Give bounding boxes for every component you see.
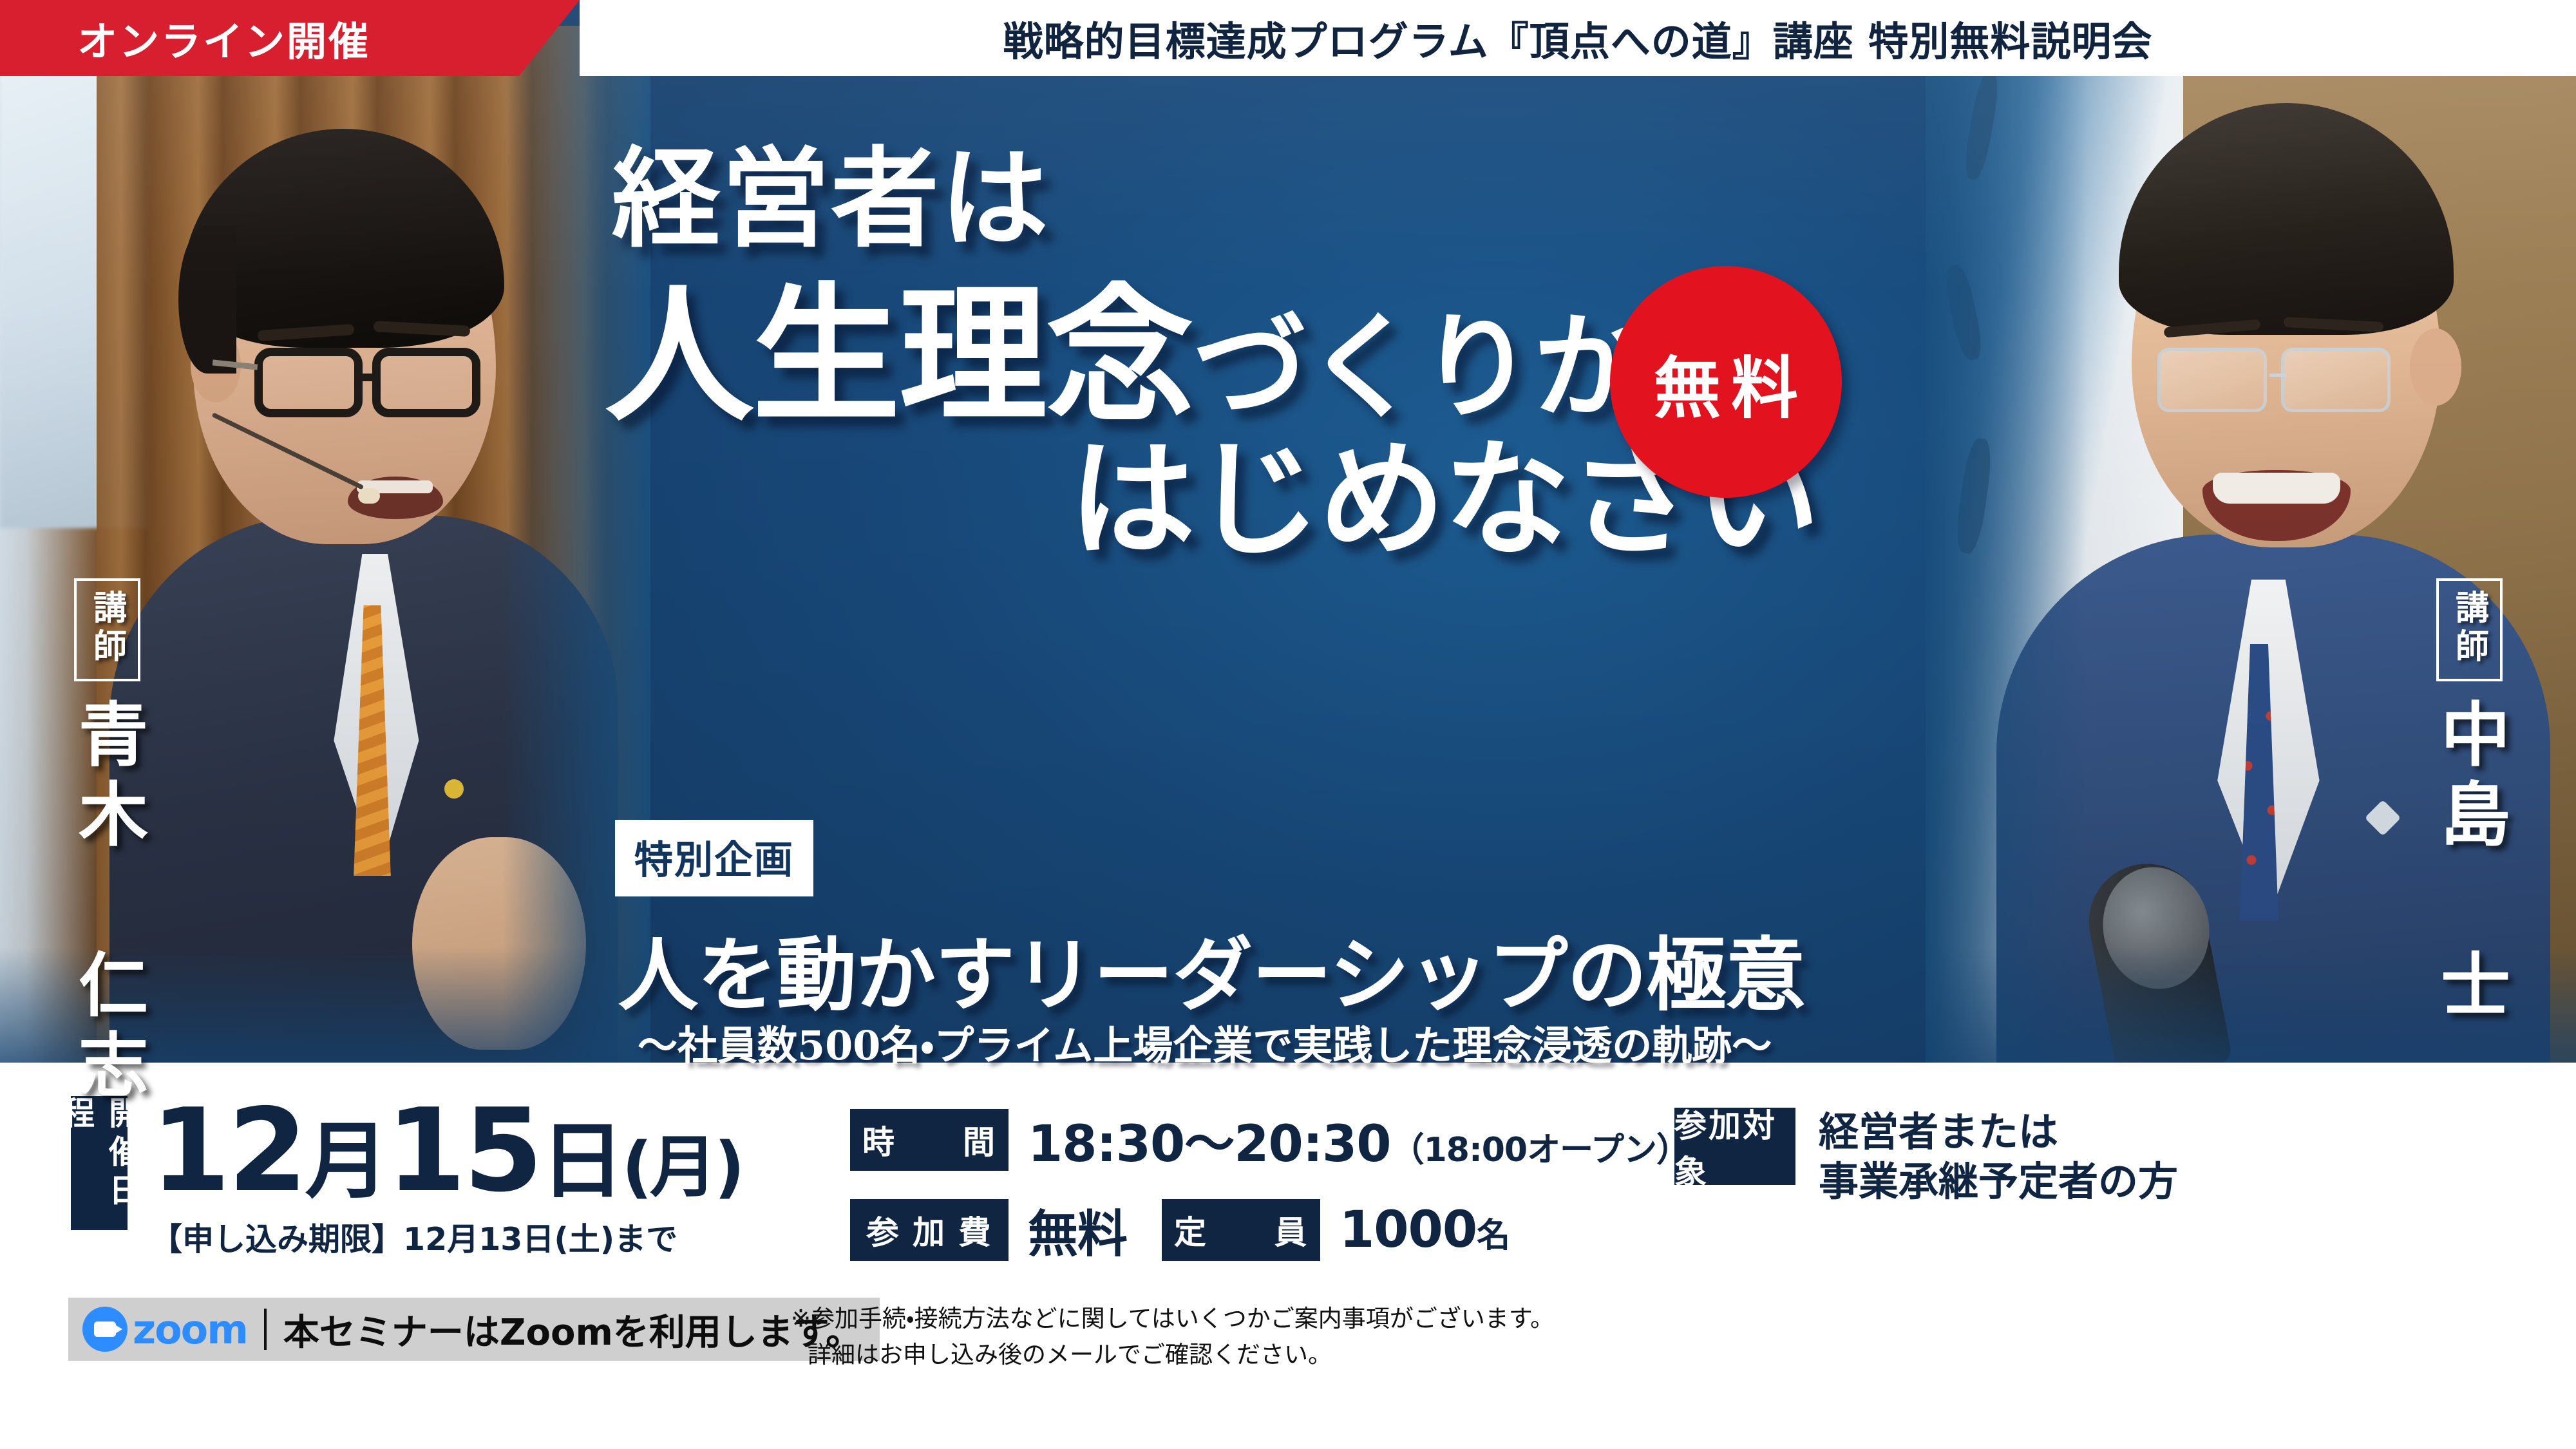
event-time-range: 18:30〜20:30 [1028, 1115, 1391, 1173]
event-time-open: （18:00オープン） [1391, 1131, 1689, 1170]
event-date-block: 開催日程 12月15日(月) 【申し込み期限】12月13日(土)まで [71, 1096, 743, 1260]
event-day-unit: 日 [540, 1112, 621, 1210]
speaker-role-badge: 講師 [2436, 578, 2503, 681]
event-fee-chip-label: 参 加 費 [850, 1207, 1009, 1253]
event-month: 12 [151, 1084, 305, 1217]
special-program-tag: 特別企画 [615, 820, 813, 896]
zoom-divider [264, 1309, 267, 1350]
target-audience-chip: 参加対象 [1674, 1108, 1795, 1185]
event-date-chip-label: 開催日程 [53, 1096, 146, 1230]
event-capacity-number: 1000 [1340, 1201, 1477, 1259]
zoom-notice-text: 本セミナーはZoomを利用します。 [283, 1303, 862, 1356]
speaker-plate-left: 講師 青木 仁志 [57, 578, 157, 1108]
event-time-chip: 時 間 [850, 1109, 1009, 1171]
program-title-bar: 戦略的目標達成プログラム『頂点への道』講座 特別無料説明会 [580, 0, 2576, 76]
target-audience-text: 経営者または 事業承継予定者の方 [1819, 1108, 2178, 1207]
event-fee-value: 無料 [1028, 1194, 1127, 1266]
event-date-values: 12月15日(月) 【申し込み期限】12月13日(土)まで [151, 1096, 743, 1260]
target-audience-block: 参加対象 経営者または 事業承継予定者の方 [1674, 1108, 2178, 1207]
event-capacity-unit: 名 [1477, 1217, 1510, 1255]
footer-details: 開催日程 12月15日(月) 【申し込み期限】12月13日(土)まで 時 間 1… [0, 1063, 2576, 1449]
zoom-wordmark: zoom [133, 1306, 247, 1353]
event-capacity-chip-label: 定 員 [1162, 1207, 1320, 1253]
special-program-tag-label: 特別企画 [634, 829, 794, 885]
speaker-name: 中島 士 [2419, 698, 2519, 1028]
event-capacity-chip: 定 員 [1162, 1199, 1320, 1261]
event-fee-chip: 参 加 費 [850, 1199, 1009, 1261]
speaker-role-badge: 講師 [74, 578, 140, 681]
event-date-text: 12月15日(月) [151, 1096, 743, 1206]
application-deadline: 【申し込み期限】12月13日(土)まで [151, 1214, 743, 1260]
zoom-logo: zoom [82, 1306, 247, 1353]
video-camera-glyph [94, 1321, 116, 1337]
special-program-note: 〜社員数500名・プライム上場企業で実践した理念浸透の軌跡〜 [638, 1013, 1772, 1071]
event-month-unit: 月 [305, 1112, 386, 1210]
fineprint-line-1: ※参加手続・接続方法などに関してはいくつかご案内事項がございます。 [791, 1305, 1554, 1332]
target-audience-chip-label: 参加対象 [1674, 1100, 1795, 1193]
event-time-value: 18:30〜20:30（18:00オープン） [1028, 1104, 1689, 1176]
free-badge: 無料 [1610, 266, 1842, 498]
target-audience-line-2: 事業承継予定者の方 [1819, 1157, 2178, 1207]
speaker-plate-right: 講師 中島 士 [2419, 578, 2519, 1028]
event-day: 15 [386, 1084, 541, 1217]
fineprint-note: ※参加手続・接続方法などに関してはいくつかご案内事項がございます。 詳細はお申し… [791, 1301, 1554, 1372]
headline-group: 無料 経営者は 人生理念づくりから はじめなさい 特別企画 人を動かすリーダーシ… [0, 76, 2576, 1061]
event-info-block: 時 間 18:30〜20:30（18:00オープン） 参 加 費 無料 定 員 … [850, 1104, 1689, 1284]
event-weekday: (月) [621, 1128, 742, 1206]
zoom-notice-bar: zoom 本セミナーはZoomを利用します。 [68, 1298, 880, 1361]
target-audience-line-1: 経営者または [1819, 1108, 2178, 1157]
event-fee-capacity-row: 参 加 費 無料 定 員 1000名 [850, 1194, 1689, 1266]
event-date-chip: 開催日程 [71, 1096, 128, 1230]
event-time-chip-label: 時 間 [850, 1117, 1009, 1163]
special-program-title: 人を動かすリーダーシップの極意 [618, 910, 1805, 1026]
zoom-camera-icon [82, 1307, 128, 1352]
event-capacity-value: 1000名 [1340, 1201, 1510, 1259]
event-time-row: 時 間 18:30〜20:30（18:00オープン） [850, 1104, 1689, 1176]
speaker-name: 青木 仁志 [57, 698, 157, 1108]
seminar-banner: オンライン開催 戦略的目標達成プログラム『頂点への道』講座 特別無料説明会 無料… [0, 0, 2576, 1449]
free-badge-label: 無料 [1643, 334, 1808, 431]
fineprint-line-2: 詳細はお申し込み後のメールでご確認ください。 [791, 1337, 1554, 1373]
online-event-label: オンライン開催 [77, 9, 370, 67]
program-title: 戦略的目標達成プログラム『頂点への道』講座 特別無料説明会 [1003, 9, 2153, 67]
online-event-ribbon: オンライン開催 [0, 0, 580, 76]
